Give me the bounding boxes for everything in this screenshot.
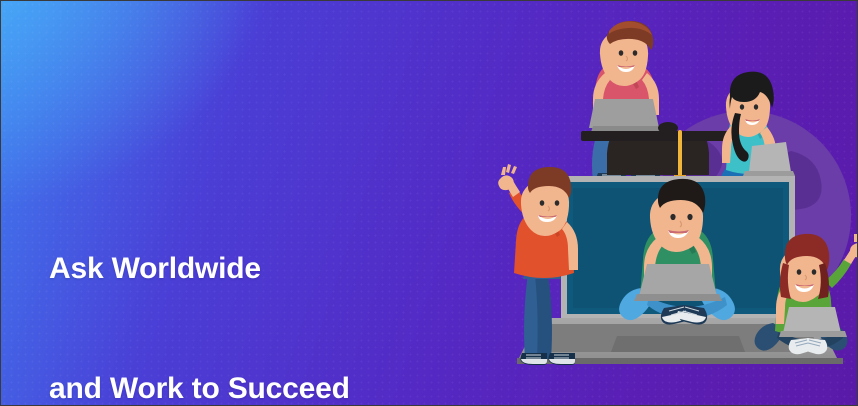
- headline-line-1: Ask Worldwide: [49, 249, 350, 289]
- page-title: Ask Worldwide and Work to Succeed: [49, 169, 350, 406]
- headline-line-2: and Work to Succeed: [49, 369, 350, 406]
- hero-banner: Ask Worldwide and Work to Succeed: [0, 0, 858, 406]
